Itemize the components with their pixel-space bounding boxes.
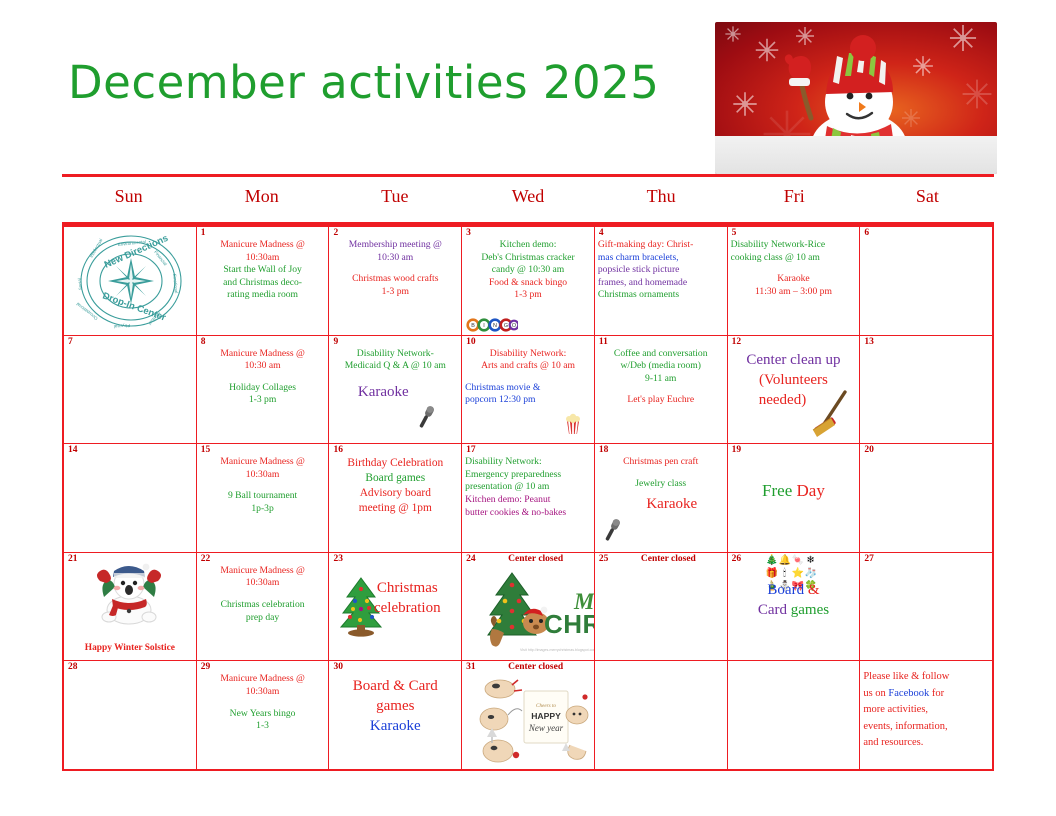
facebook-follow-note: Please like & follow us on Facebook for …: [863, 669, 989, 752]
day-cell-24[interactable]: 24 Center closed: [462, 553, 595, 661]
day-cell-4[interactable]: 4 Gift-making day: Christ- mas charm bra…: [595, 227, 728, 335]
day-cell-1[interactable]: 1 Manicure Madness @ 10:30am Start the W…: [197, 227, 330, 335]
day-events: Christmas celebration: [356, 578, 458, 618]
day-cell-16[interactable]: 16 Birthday Celebration Board games Advi…: [329, 444, 462, 552]
spacer: [465, 373, 591, 382]
svg-text:HAPPY: HAPPY: [531, 711, 561, 721]
event-line: Happy Winter Solstice: [64, 642, 196, 655]
day-cell-17[interactable]: 17 Disability Network: Emergency prepare…: [462, 444, 595, 552]
day-cell-22[interactable]: 22 Manicure Madness @ 10:30am Christmas …: [197, 553, 330, 661]
event-line: 10:30 am: [200, 360, 326, 373]
day-number: 20: [864, 445, 874, 456]
event-line: Advisory board: [332, 486, 458, 501]
ampersand: &: [808, 582, 820, 598]
event-line: Disability Network-: [332, 348, 458, 361]
event-line: Free Day: [731, 479, 857, 502]
day-events: Gift-making day: Christ- mas charm brace…: [598, 239, 724, 302]
day-number: 24: [466, 554, 476, 565]
day-events: Disability Network- Medicaid Q & A @ 10 …: [332, 348, 458, 402]
bell-icon: 🔔: [779, 555, 791, 567]
day-number: 30: [333, 662, 343, 673]
calendar-week-row: 14 15 Manicure Madness @ 10:30am 9 Ball …: [64, 444, 992, 553]
event-line: Emergency preparedness: [465, 469, 591, 482]
event-line: candy @ 10:30 am: [465, 264, 591, 277]
day-cell-19[interactable]: 19 Free Day: [728, 444, 861, 552]
day-number: 29: [201, 662, 211, 673]
note-line: more activities,: [863, 702, 989, 719]
event-line: 10:30am: [200, 252, 326, 265]
day-events: Board & Card games Karaoke: [332, 676, 458, 736]
day-number: 12: [732, 337, 742, 348]
event-line: Coffee and conversation: [598, 348, 724, 361]
center-closed-note: Center closed: [641, 554, 696, 564]
event-line: Gift-making day: Christ-: [598, 239, 724, 252]
note-line: us on Facebook for: [863, 686, 989, 703]
day-events: Manicure Madness @ 10:30 am Holiday Coll…: [200, 348, 326, 407]
page-header: December activities 2025: [0, 0, 1056, 180]
event-line: Holiday Collages: [200, 382, 326, 395]
day-number: 4: [599, 228, 604, 239]
event-line: Christmas: [356, 578, 458, 598]
weekday-header-row: Sun Mon Tue Wed Thu Fri Sat: [62, 186, 994, 218]
day-cell-7[interactable]: 7: [64, 336, 197, 444]
day-number: 27: [864, 554, 874, 565]
spacer: [731, 264, 857, 273]
event-line: Arts and crafts @ 10 am: [465, 360, 591, 373]
event-line: Manicure Madness @: [200, 239, 326, 252]
svg-text:Cheers to: Cheers to: [536, 703, 556, 709]
day-number: 14: [68, 445, 78, 456]
weekday-mon: Mon: [195, 186, 328, 218]
star-icon: ⭐: [792, 568, 804, 580]
svg-text:B: B: [471, 323, 475, 329]
page-title: December activities 2025: [68, 56, 659, 109]
event-line: 11:30 am – 3:00 pm: [731, 286, 857, 299]
day-cell-8[interactable]: 8 Manicure Madness @ 10:30 am Holiday Co…: [197, 336, 330, 444]
candy-icon: 🍬: [792, 555, 804, 567]
note-line: and resources.: [863, 735, 989, 752]
day-cell-5[interactable]: 5 Disability Network-Rice cooking class …: [728, 227, 861, 335]
day-cell-empty-1[interactable]: [595, 661, 728, 770]
day-number: 3: [466, 228, 471, 239]
day-word: Day: [797, 481, 825, 500]
event-line: frames, and homemade: [598, 277, 724, 290]
event-line: 1-3 pm: [200, 394, 326, 407]
calendar-week-row: 28 29 Manicure Madness @ 10:30am New Yea…: [64, 661, 992, 770]
event-line: Karaoke: [731, 273, 857, 286]
event-line: 1-3 pm: [332, 286, 458, 299]
day-cell-25[interactable]: 25 Center closed: [595, 553, 728, 661]
day-number: 21: [68, 554, 78, 565]
day-number: 23: [333, 554, 343, 565]
weekday-tue: Tue: [328, 186, 461, 218]
event-line: rating media room: [200, 289, 326, 302]
spacer: [598, 469, 724, 478]
event-line: Start the Wall of Joy: [200, 264, 326, 277]
event-line: Christmas celebration: [200, 599, 326, 612]
day-number: 9: [333, 337, 338, 348]
day-cell-2[interactable]: 2 Membership meeting @ 10:30 am Christma…: [329, 227, 462, 335]
event-line: Birthday Celebration: [332, 456, 458, 471]
day-number: 31: [466, 662, 476, 673]
spacer: [200, 699, 326, 708]
note-line: events, information,: [863, 719, 989, 736]
event-line: Manicure Madness @: [200, 456, 326, 469]
new-directions-logo-icon: New Directions Drop-In Center Environmen…: [72, 232, 190, 330]
event-line: Medicaid Q & A @ 10 am: [332, 360, 458, 373]
spacer: [200, 481, 326, 490]
event-line: prep day: [200, 612, 326, 625]
event-line: 10:30 am: [332, 252, 458, 265]
day-events: Christmas pen craft Jewelry class Karaok…: [598, 456, 724, 514]
event-line: Karaoke: [332, 716, 458, 736]
event-line: Deb's Christmas cracker: [465, 252, 591, 265]
day-cell-footer-note[interactable]: Please like & follow us on Facebook for …: [860, 661, 992, 770]
weekday-sun: Sun: [62, 186, 195, 218]
event-line: Manicure Madness @: [200, 348, 326, 361]
note-line: Please like & follow: [863, 669, 989, 686]
weekday-thu: Thu: [595, 186, 728, 218]
day-events: Coffee and conversation w/Deb (media roo…: [598, 348, 724, 407]
weekday-wed: Wed: [461, 186, 594, 218]
happy-new-year-graphic: Cheers to HAPPY New year: [472, 675, 592, 765]
snowbank-shape: [715, 136, 997, 174]
calendar-week-row: 21: [64, 553, 992, 662]
note-text: us on: [863, 688, 888, 699]
weekday-fri: Fri: [728, 186, 861, 218]
microphone-icon: [599, 516, 625, 542]
event-line: Let's play Euchre: [598, 394, 724, 407]
day-events: Manicure Madness @ 10:30am Christmas cel…: [200, 565, 326, 624]
event-line: Card games: [731, 600, 857, 620]
calendar-grid: New Directions Drop-In Center Environmen…: [62, 222, 994, 771]
day-events: Membership meeting @ 10:30 am Christmas …: [332, 239, 458, 298]
free-word: Free: [762, 481, 792, 500]
day-cell-26[interactable]: 26 🎄 🔔 🍬 ❄ 🎁 🕯 ⭐ 🧦 🎍 ⛄ 🎀 🍀 Board &: [728, 553, 861, 661]
day-number: 25: [599, 554, 609, 565]
snowman-icon: [92, 559, 166, 625]
day-events: Birthday Celebration Board games Advisor…: [332, 456, 458, 516]
day-cell-20[interactable]: 20: [860, 444, 992, 552]
day-cell-logo[interactable]: New Directions Drop-In Center Environmen…: [64, 227, 197, 335]
svg-text:CHRISTMAS: CHRISTMAS: [544, 609, 595, 639]
candle-icon: 🕯: [779, 568, 791, 580]
event-line: 9-11 am: [598, 373, 724, 386]
event-line: Board & Card: [332, 676, 458, 696]
day-events: Disability Network: Emergency preparedne…: [465, 456, 591, 519]
day-number: 5: [732, 228, 737, 239]
event-line: mas charm bracelets,: [598, 252, 724, 265]
event-line: Karaoke: [332, 382, 434, 402]
day-number: 15: [201, 445, 211, 456]
event-line: games: [332, 696, 458, 716]
games-word: games: [791, 602, 829, 618]
svg-text:G: G: [504, 323, 508, 329]
center-closed-note: Center closed: [508, 554, 563, 564]
day-cell-31[interactable]: 31 Center closed: [462, 661, 595, 770]
svg-text:N: N: [493, 323, 497, 329]
card-word: Card: [758, 602, 787, 618]
day-cell-empty-2[interactable]: [728, 661, 861, 770]
day-number: 1: [201, 228, 206, 239]
event-line: New Years bingo: [200, 708, 326, 721]
event-line: Board &: [731, 580, 857, 600]
day-cell-27[interactable]: 27: [860, 553, 992, 661]
ornament-icon: 🎄: [766, 555, 778, 567]
snowman-holiday-banner-image: [715, 22, 997, 174]
calendar-week-row: New Directions Drop-In Center Environmen…: [64, 227, 992, 336]
day-events: Manicure Madness @ 10:30am Start the Wal…: [200, 239, 326, 302]
day-number: 18: [599, 445, 609, 456]
day-cell-6[interactable]: 6: [860, 227, 992, 335]
event-line: (Volunteers: [731, 370, 857, 390]
spacer: [332, 264, 458, 273]
day-events: Disability Network: Arts and crafts @ 10…: [465, 348, 591, 407]
popcorn-icon: [562, 413, 584, 435]
event-line: Kitchen demo: Peanut: [465, 494, 591, 507]
day-cell-28[interactable]: 28: [64, 661, 197, 770]
event-line: Food & snack bingo: [465, 277, 591, 290]
day-number: 11: [599, 337, 608, 348]
day-number: 28: [68, 662, 78, 673]
day-number: 26: [732, 554, 742, 565]
calendar-page: December activities 2025: [0, 0, 1056, 816]
day-cell-15[interactable]: 15 Manicure Madness @ 10:30am 9 Ball tou…: [197, 444, 330, 552]
svg-text:Intellectual: Intellectual: [89, 238, 104, 259]
event-line: Manicure Madness @: [200, 673, 326, 686]
event-line: 1-3 pm: [465, 289, 591, 302]
merry-christmas-graphic: Merry CHRISTMAS Visit http://images-merr…: [478, 571, 595, 657]
day-events: Manicure Madness @ 10:30am New Years bin…: [200, 673, 326, 732]
event-line: butter cookies & no-bakes: [465, 507, 591, 520]
event-line: 10:30am: [200, 577, 326, 590]
day-number: 16: [333, 445, 343, 456]
day-number: 19: [732, 445, 742, 456]
note-text: for: [929, 688, 944, 699]
event-line: 10:30am: [200, 686, 326, 699]
event-line: w/Deb (media room): [598, 360, 724, 373]
event-line: Manicure Madness @: [200, 565, 326, 578]
day-cell-23[interactable]: 23: [329, 553, 462, 661]
event-line: 10:30am: [200, 469, 326, 482]
day-events: Manicure Madness @ 10:30am 9 Ball tourna…: [200, 456, 326, 515]
weekday-sat: Sat: [861, 186, 994, 218]
event-line: 1p-3p: [200, 503, 326, 516]
day-events: Disability Network-Rice cooking class @ …: [731, 239, 857, 298]
svg-text:Emotional: Emotional: [172, 274, 179, 294]
board-word: Board: [767, 582, 804, 598]
event-line: presentation @ 10 am: [465, 481, 591, 494]
event-line: popsicle stick picture: [598, 264, 724, 277]
day-cell-29[interactable]: 29 Manicure Madness @ 10:30am New Years …: [197, 661, 330, 770]
event-line: 1-3: [200, 720, 326, 733]
svg-text:Visit http://images-merrychris: Visit http://images-merrychristmas.blogs…: [520, 648, 595, 652]
broom-icon: [811, 390, 853, 442]
bingo-balls-icon: BINGO: [466, 317, 518, 333]
spacer: [332, 373, 458, 382]
event-line: Disability Network:: [465, 348, 591, 361]
svg-text:I: I: [483, 323, 485, 329]
day-cell-30[interactable]: 30 Board & Card games Karaoke: [329, 661, 462, 770]
event-line: Christmas ornaments: [598, 289, 724, 302]
event-line: Membership meeting @: [332, 239, 458, 252]
day-number: 8: [201, 337, 206, 348]
day-cell-13[interactable]: 13: [860, 336, 992, 444]
day-cell-9[interactable]: 9 Disability Network- Medicaid Q & A @ 1…: [329, 336, 462, 444]
event-line: Christmas movie &: [465, 382, 591, 395]
day-number: 6: [864, 228, 869, 239]
facebook-link[interactable]: Facebook: [888, 688, 929, 699]
svg-text:Social: Social: [77, 278, 83, 290]
day-cell-14[interactable]: 14: [64, 444, 197, 552]
day-number: 7: [68, 337, 73, 348]
day-number: 10: [466, 337, 476, 348]
day-cell-3[interactable]: 3 Kitchen demo: Deb's Christmas cracker …: [462, 227, 595, 335]
day-number: 13: [864, 337, 874, 348]
spacer: [200, 590, 326, 599]
event-line: popcorn 12:30 pm: [465, 394, 591, 407]
event-line: cooking class @ 10 am: [731, 252, 857, 265]
day-cell-11[interactable]: 11 Coffee and conversation w/Deb (media …: [595, 336, 728, 444]
day-events: Board & Card games: [731, 580, 857, 620]
center-closed-note: Center closed: [508, 662, 563, 672]
snowflake-icon: ❄: [805, 555, 817, 567]
stocking-icon: 🧦: [805, 568, 817, 580]
event-line: 9 Ball tournament: [200, 490, 326, 503]
event-line: Disability Network:: [465, 456, 591, 469]
event-line: and Christmas deco-: [200, 277, 326, 290]
event-line: Board games: [332, 471, 458, 486]
day-number: 22: [201, 554, 211, 565]
microphone-icon: [413, 403, 439, 429]
event-line: celebration: [356, 598, 458, 618]
title-divider-rule: [62, 174, 994, 177]
event-line: Christmas wood crafts: [332, 273, 458, 286]
day-events: Free Day: [731, 479, 857, 502]
event-line: Karaoke: [620, 494, 724, 514]
event-line: Jewelry class: [598, 478, 724, 491]
spacer: [200, 373, 326, 382]
spacer: [598, 385, 724, 394]
gift-icon: 🎁: [766, 568, 778, 580]
day-cell-12[interactable]: 12 Center clean up (Volunteers needed): [728, 336, 861, 444]
event-line: meeting @ 1pm: [332, 501, 458, 516]
event-line: Kitchen demo:: [465, 239, 591, 252]
day-events: Happy Winter Solstice: [64, 642, 196, 655]
day-cell-10[interactable]: 10 Disability Network: Arts and crafts @…: [462, 336, 595, 444]
svg-text:O: O: [512, 323, 516, 329]
event-line: Center clean up: [731, 350, 857, 370]
day-number: 17: [466, 445, 476, 456]
svg-text:New year: New year: [528, 723, 564, 733]
day-number: 2: [333, 228, 338, 239]
day-cell-21[interactable]: 21: [64, 553, 197, 661]
event-line: Disability Network-Rice: [731, 239, 857, 252]
calendar-week-row: 7 8 Manicure Madness @ 10:30 am Holiday …: [64, 336, 992, 445]
day-events: Kitchen demo: Deb's Christmas cracker ca…: [465, 239, 591, 302]
day-cell-18[interactable]: 18 Christmas pen craft Jewelry class Kar…: [595, 444, 728, 552]
event-line: Christmas pen craft: [598, 456, 724, 469]
